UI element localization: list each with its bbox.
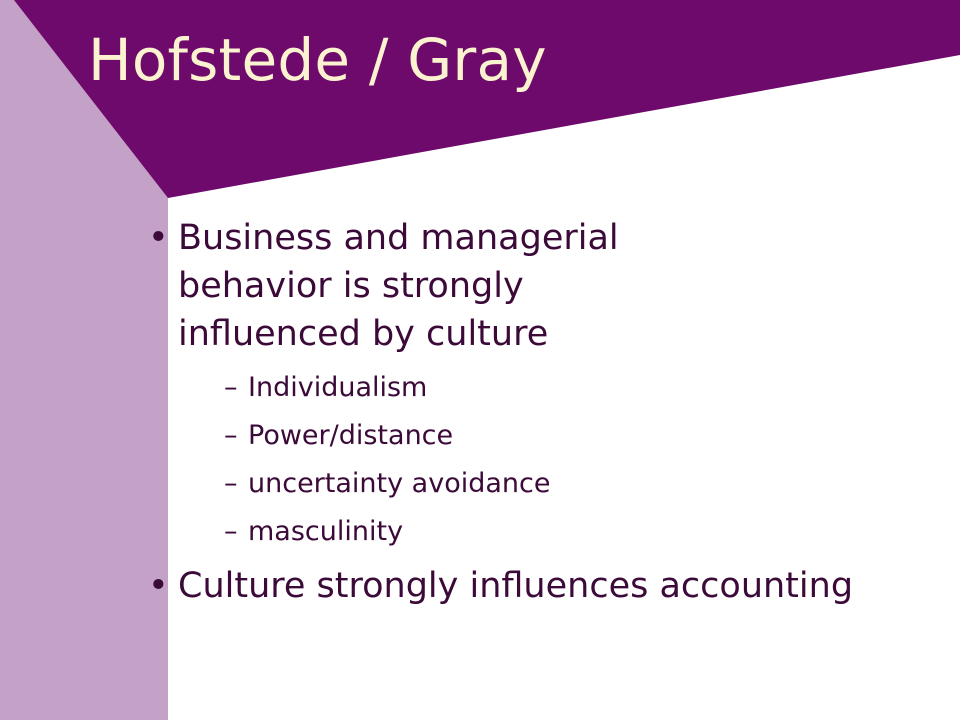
list-item: – Power/distance: [178, 412, 936, 460]
bullet-list-level1: • Business and managerial behavior is st…: [146, 214, 936, 610]
content-placeholder: • Business and managerial behavior is st…: [146, 214, 936, 612]
sub-bullet-text: masculinity: [248, 508, 936, 556]
list-item: – uncertainty avoidance: [178, 460, 936, 508]
page-title: Hofstede / Gray: [88, 30, 547, 91]
bullet-text: Business and managerial behavior is stro…: [178, 214, 648, 358]
dash-marker-icon: –: [224, 460, 248, 508]
bullet-list-level2: – Individualism – Power/distance – uncer…: [178, 364, 936, 556]
sub-bullet-text: Individualism: [248, 364, 936, 412]
title-area: Hofstede / Gray: [88, 18, 848, 102]
dash-marker-icon: –: [224, 364, 248, 412]
bullet-marker-icon: •: [148, 562, 180, 610]
left-accent-bar: [0, 0, 168, 720]
dash-marker-icon: –: [224, 412, 248, 460]
slide-canvas: Hofstede / Gray • Business and manageria…: [0, 0, 960, 720]
dash-marker-icon: –: [224, 508, 248, 556]
sub-bullet-text: Power/distance: [248, 412, 936, 460]
list-item: • Culture strongly influences accounting: [146, 562, 936, 610]
bullet-marker-icon: •: [148, 214, 180, 262]
list-item: – masculinity: [178, 508, 936, 556]
list-item: – Individualism: [178, 364, 936, 412]
bullet-text: Culture strongly influences accounting: [178, 562, 936, 610]
sub-bullet-text: uncertainty avoidance: [248, 460, 936, 508]
list-item: • Business and managerial behavior is st…: [146, 214, 936, 556]
